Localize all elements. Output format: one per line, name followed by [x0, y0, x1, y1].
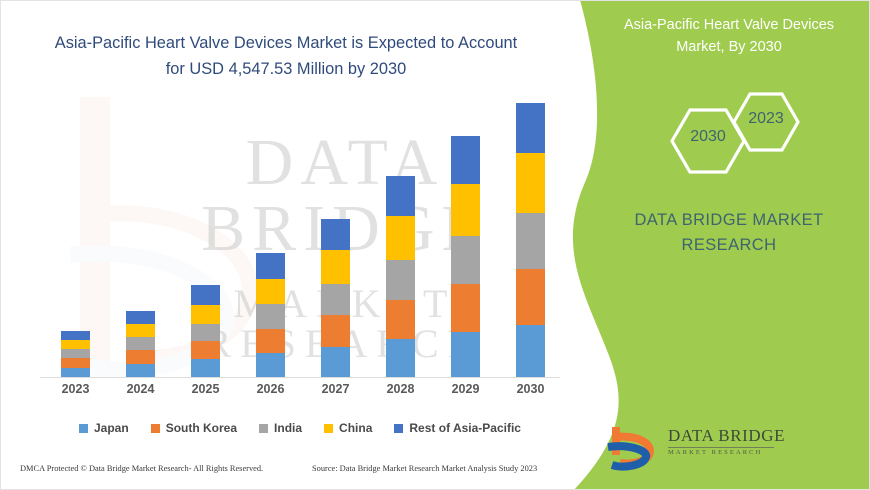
legend-swatch-south-korea: [151, 424, 160, 433]
x-axis-label-2030: 2030: [501, 382, 561, 396]
bar-segment-china: [516, 153, 545, 213]
x-axis-labels: 20232024202520262027202820292030: [40, 382, 560, 404]
bar-segment-rest-of-asia-pacific: [126, 311, 155, 324]
legend-swatch-china: [324, 424, 333, 433]
brand-logo-subtitle: MARKET RESEARCH: [668, 450, 785, 457]
bar-segment-rest-of-asia-pacific: [191, 285, 220, 305]
x-axis-label-2024: 2024: [111, 382, 171, 396]
bar-segment-rest-of-asia-pacific: [516, 103, 545, 153]
legend-item-china[interactable]: China: [324, 421, 372, 435]
bar-segment-south-korea: [191, 341, 220, 359]
legend-label-china: China: [339, 421, 372, 435]
bar-segment-rest-of-asia-pacific: [386, 176, 415, 216]
brand-logo-icon: [606, 425, 664, 471]
panel-title: Asia-Pacific Heart Valve Devices Market,…: [600, 14, 858, 59]
brand-logo: DATA BRIDGE MARKET RESEARCH: [606, 425, 786, 473]
bar-2028: [386, 176, 415, 378]
x-axis-label-2025: 2025: [176, 382, 236, 396]
x-axis-label-2029: 2029: [436, 382, 496, 396]
bar-segment-japan: [516, 325, 545, 378]
hexagon-2023-label: 2023: [734, 110, 798, 128]
bar-segment-south-korea: [126, 350, 155, 364]
bar-2026: [256, 253, 285, 378]
bar-segment-south-korea: [451, 284, 480, 332]
bar-segment-south-korea: [61, 358, 90, 368]
footer-source: Source: Data Bridge Market Research Mark…: [312, 464, 537, 473]
bar-segment-india: [386, 260, 415, 300]
bar-segment-china: [61, 340, 90, 349]
legend-label-rest-of-asia-pacific: Rest of Asia-Pacific: [409, 421, 521, 435]
x-axis-label-2028: 2028: [371, 382, 431, 396]
bar-segment-india: [451, 236, 480, 284]
bar-2030: [516, 103, 545, 378]
bar-segment-rest-of-asia-pacific: [321, 219, 350, 250]
chart-plot-area: [40, 110, 560, 378]
bar-segment-india: [321, 284, 350, 315]
bar-segment-china: [256, 279, 285, 304]
bar-segment-india: [61, 349, 90, 358]
bar-segment-china: [191, 305, 220, 324]
bar-segment-china: [321, 250, 350, 284]
bar-segment-south-korea: [516, 269, 545, 325]
bar-segment-china: [451, 184, 480, 236]
legend-swatch-india: [259, 424, 268, 433]
bar-segment-india: [126, 337, 155, 350]
legend-label-japan: Japan: [94, 421, 129, 435]
bar-segment-rest-of-asia-pacific: [61, 331, 90, 340]
legend-swatch-rest-of-asia-pacific: [394, 424, 403, 433]
bar-segment-rest-of-asia-pacific: [451, 136, 480, 184]
bar-segment-japan: [256, 353, 285, 378]
bar-segment-south-korea: [256, 329, 285, 353]
x-axis-label-2023: 2023: [46, 382, 106, 396]
legend-swatch-japan: [79, 424, 88, 433]
panel-title-line-2: Market, By 2030: [600, 36, 858, 58]
legend-label-south-korea: South Korea: [166, 421, 237, 435]
bar-segment-japan: [386, 339, 415, 378]
bar-segment-india: [191, 324, 220, 341]
stacked-bar-chart: 20232024202520262027202820292030 JapanSo…: [0, 0, 590, 420]
legend-item-india[interactable]: India: [259, 421, 302, 435]
bar-segment-japan: [321, 347, 350, 378]
bar-segment-india: [256, 304, 285, 329]
infographic-canvas: DATA BRIDGE MARKET RESEARCH Asia-Pacific…: [0, 0, 870, 490]
bar-2023: [61, 331, 90, 378]
legend-item-south-korea[interactable]: South Korea: [151, 421, 237, 435]
legend-item-japan[interactable]: Japan: [79, 421, 129, 435]
x-axis-label-2027: 2027: [306, 382, 366, 396]
x-axis-label-2026: 2026: [241, 382, 301, 396]
panel-title-line-1: Asia-Pacific Heart Valve Devices: [600, 14, 858, 36]
hexagon-2030-label: 2030: [672, 128, 744, 146]
bar-segment-south-korea: [386, 300, 415, 339]
legend-label-india: India: [274, 421, 302, 435]
bar-2025: [191, 285, 220, 378]
bar-segment-china: [386, 216, 415, 260]
bar-segment-japan: [451, 332, 480, 378]
panel-brand-text: DATA BRIDGE MARKET RESEARCH: [600, 208, 858, 258]
x-axis-line: [40, 377, 560, 378]
bar-segment-china: [126, 324, 155, 337]
bar-segment-japan: [126, 364, 155, 378]
bar-segment-rest-of-asia-pacific: [256, 253, 285, 279]
bar-segment-south-korea: [321, 315, 350, 347]
chart-legend: JapanSouth KoreaIndiaChinaRest of Asia-P…: [40, 418, 560, 438]
bar-2029: [451, 136, 480, 378]
bar-2027: [321, 219, 350, 378]
footer: DMCA Protected © Data Bridge Market Rese…: [0, 464, 600, 480]
brand-logo-title: DATA BRIDGE: [668, 427, 785, 444]
hexagon-group: 2030 2023: [660, 86, 820, 196]
brand-logo-rule: [668, 447, 774, 448]
footer-copyright: DMCA Protected © Data Bridge Market Rese…: [20, 464, 263, 473]
legend-item-rest-of-asia-pacific[interactable]: Rest of Asia-Pacific: [394, 421, 521, 435]
panel-brand-line-2: RESEARCH: [600, 233, 858, 258]
bar-segment-india: [516, 213, 545, 269]
bar-segment-japan: [191, 359, 220, 378]
panel-brand-line-1: DATA BRIDGE MARKET: [600, 208, 858, 233]
bar-2024: [126, 311, 155, 378]
